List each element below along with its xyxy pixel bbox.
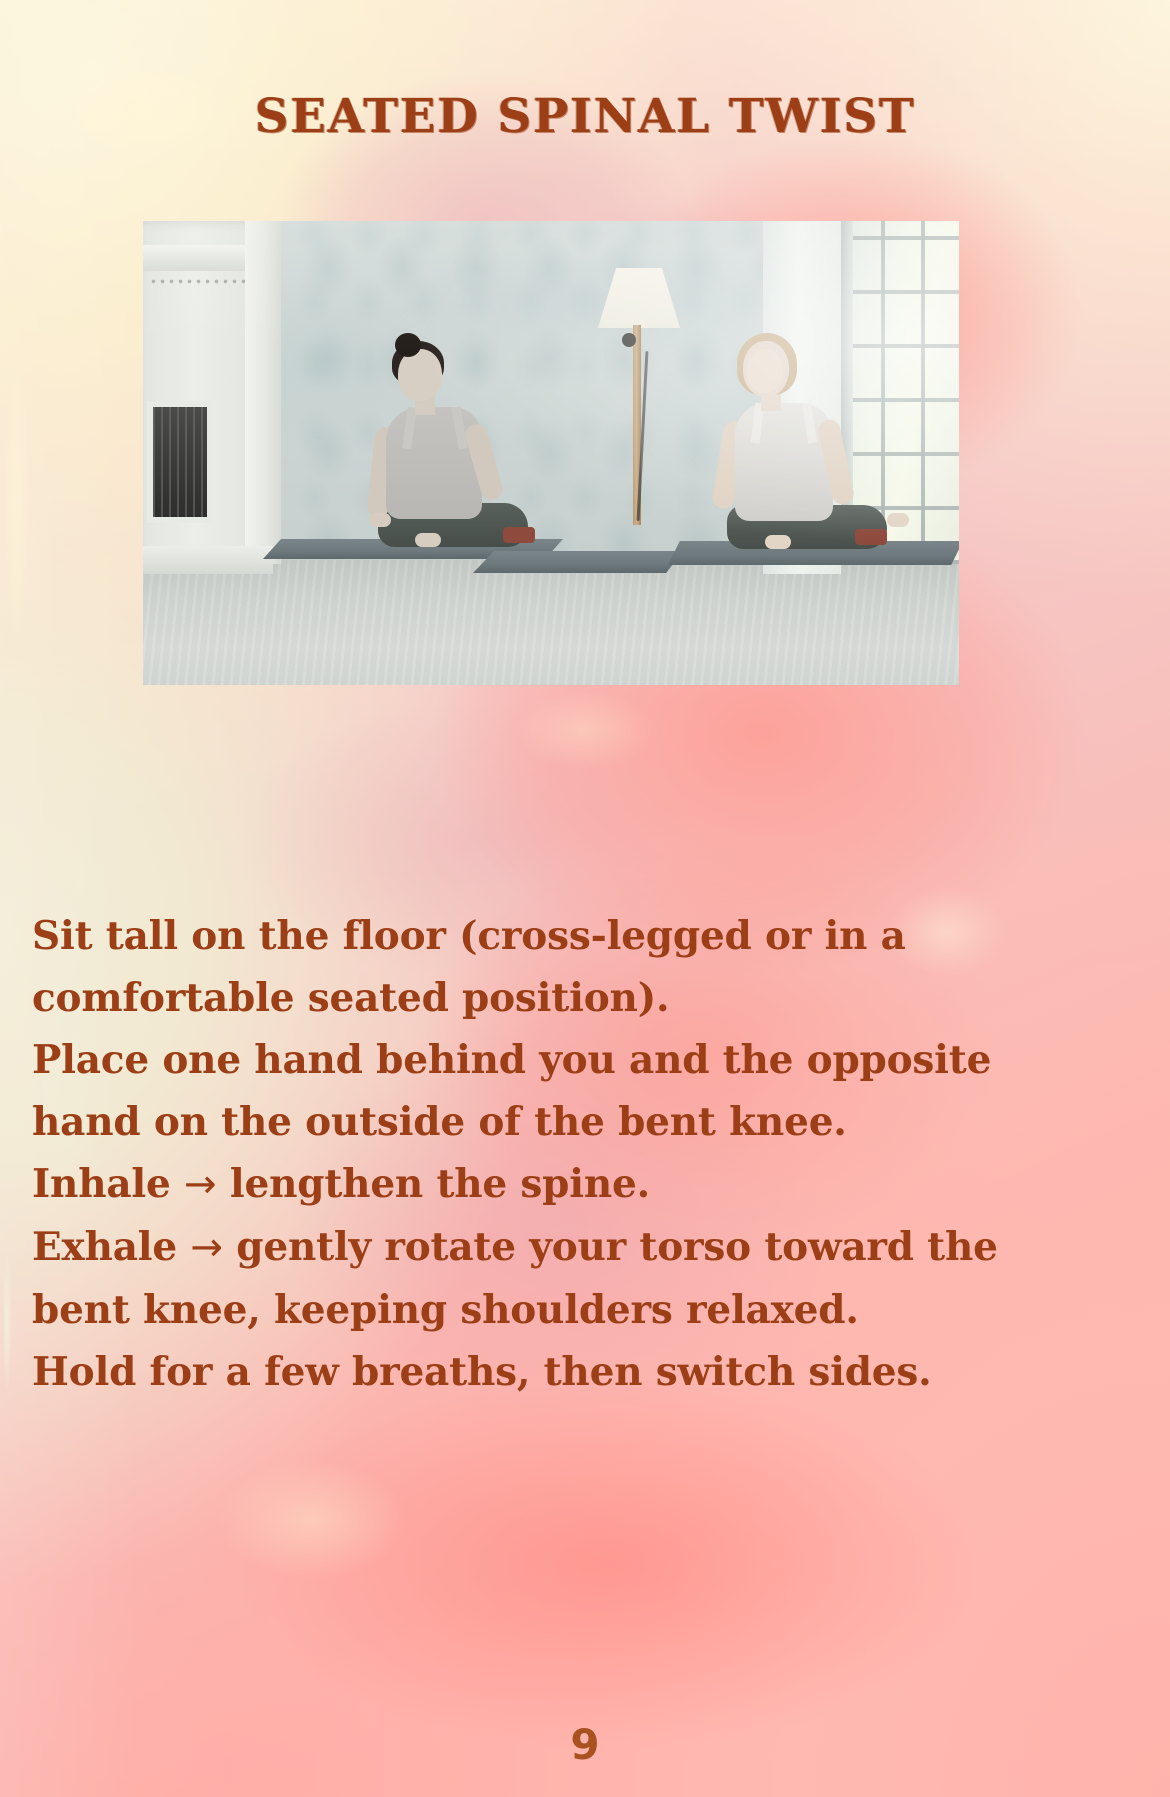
arrow-icon: → — [184, 1162, 216, 1207]
instruction-line: Hold for a few breaths, then switch side… — [32, 1341, 1142, 1403]
instruction-line: Place one hand behind you and the opposi… — [32, 1029, 1142, 1091]
page-title: SEATED SPINAL TWIST — [0, 89, 1170, 144]
page-number: 9 — [0, 1720, 1170, 1769]
instruction-line: bent knee, keeping shoulders relaxed. — [32, 1279, 1142, 1341]
page-canvas: SEATED SPINAL TWIST — [0, 0, 1170, 1797]
instruction-line: Inhale → lengthen the spine. — [32, 1153, 1142, 1216]
instruction-line: hand on the outside of the bent knee. — [32, 1091, 1142, 1153]
instruction-text: Sit tall on the floor (cross-legged or i… — [32, 905, 1142, 1403]
instruction-line: Exhale → gently rotate your torso toward… — [32, 1216, 1142, 1279]
photo-scene — [143, 221, 959, 685]
instruction-line: comfortable seated position). — [32, 967, 1142, 1029]
yoga-photo — [143, 221, 959, 685]
photo-light-haze — [143, 221, 959, 685]
arrow-icon: → — [190, 1225, 222, 1270]
instruction-line: Sit tall on the floor (cross-legged or i… — [32, 905, 1142, 967]
